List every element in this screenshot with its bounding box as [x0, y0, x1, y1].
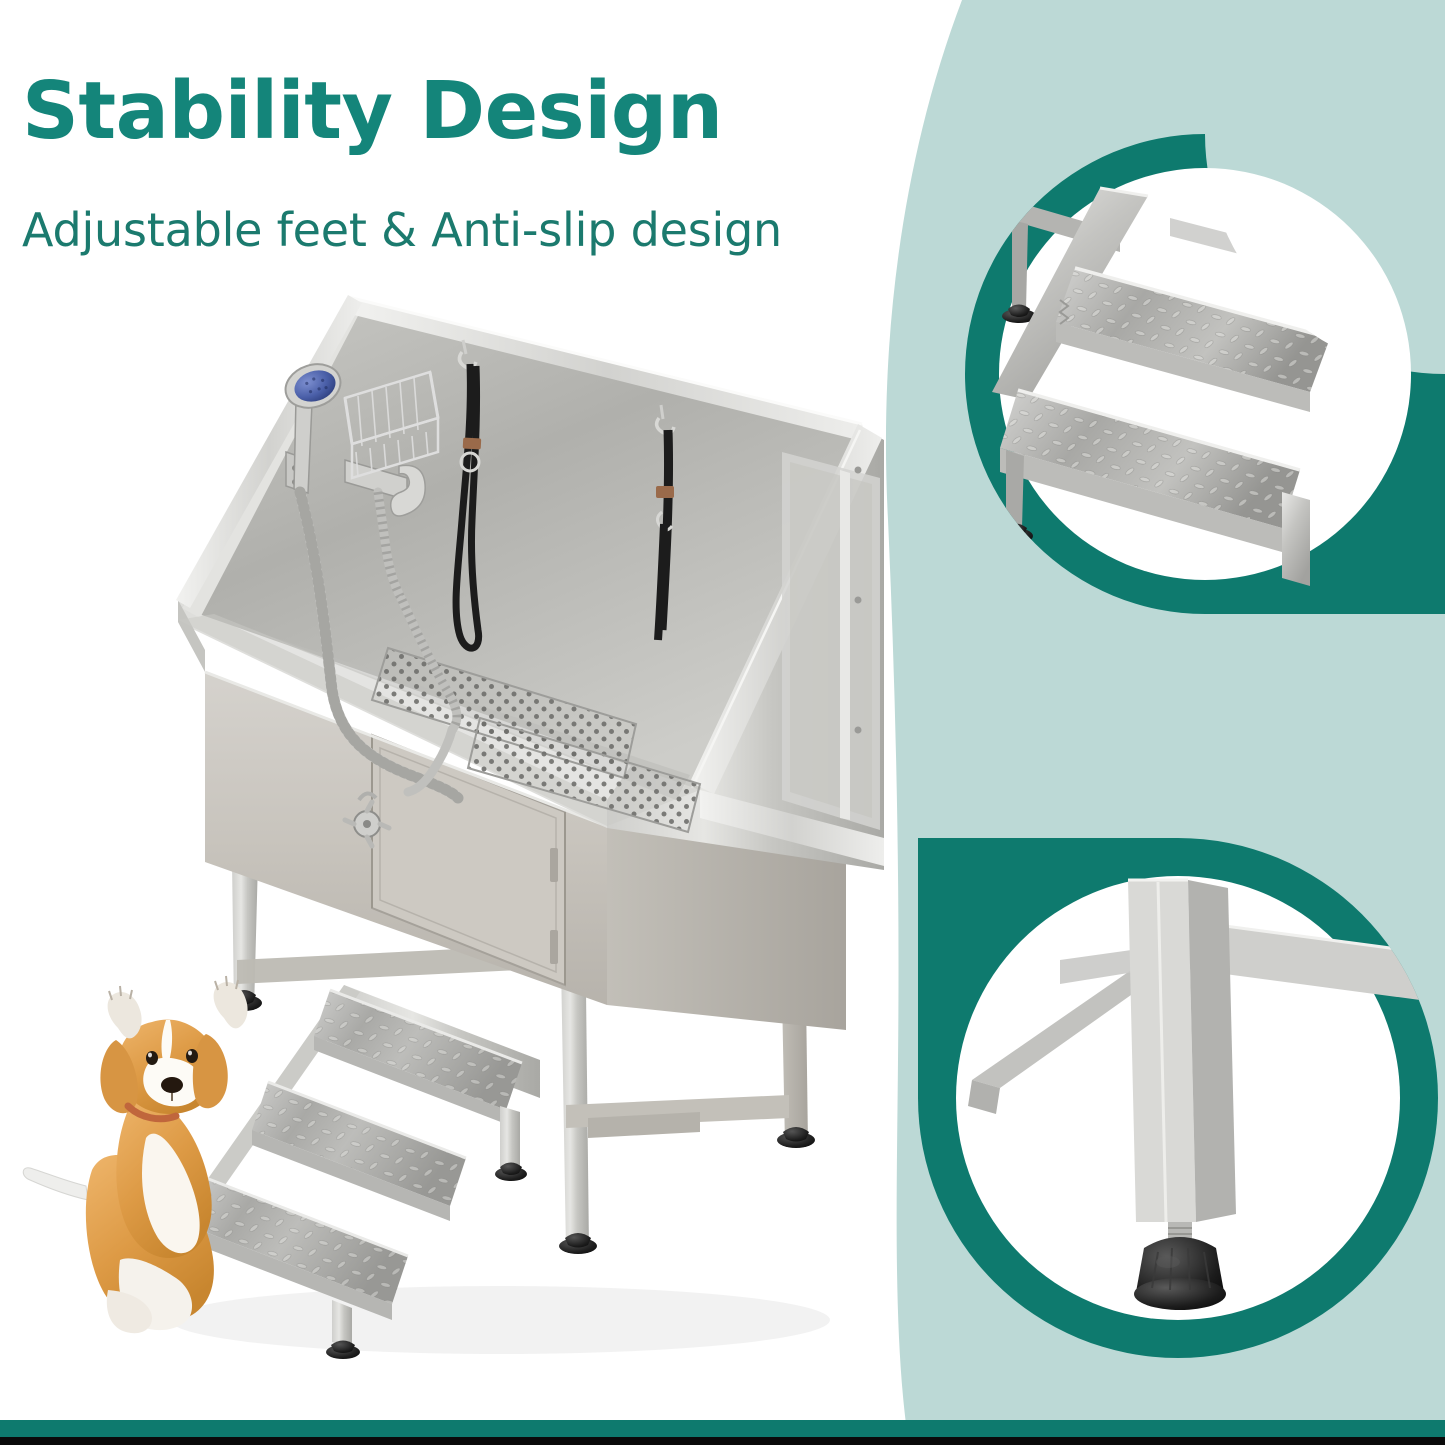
- poster-canvas: Stability Design Adjustable feet & Anti-…: [0, 0, 1445, 1445]
- footer-shadow-bar: [0, 1437, 1445, 1445]
- footer-accent-bar: [0, 1420, 1445, 1437]
- page-title: Stability Design: [22, 72, 782, 151]
- page-subtitle: Adjustable feet & Anti-slip design: [22, 207, 782, 253]
- mint-panel-shape: [886, 0, 1445, 1424]
- heading-block: Stability Design Adjustable feet & Anti-…: [22, 72, 782, 253]
